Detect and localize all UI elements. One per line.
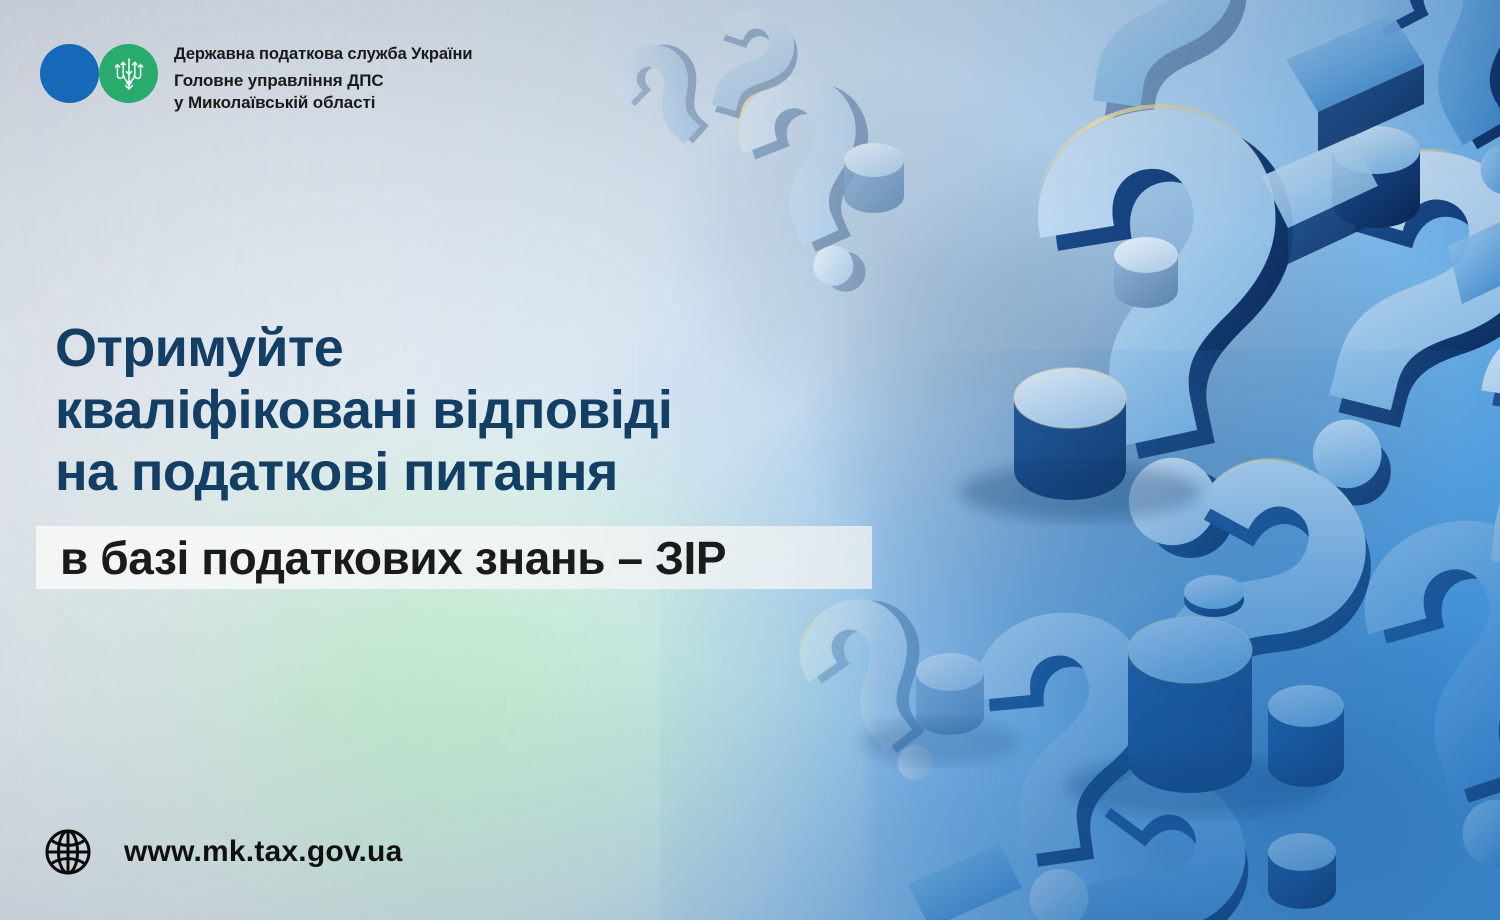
headline-block: Отримуйте кваліфіковані відповіді на под… <box>55 318 915 503</box>
ukraine-trident-icon <box>99 44 158 103</box>
logo-text-block: Державна податкова служба України Головн… <box>174 44 472 113</box>
headline-line-2: кваліфіковані відповіді <box>55 380 915 442</box>
logo-line-agency: Державна податкова служба України <box>174 45 472 64</box>
headline-line-3: на податкові питання <box>55 442 915 504</box>
organization-logo: Державна податкова служба України Головн… <box>40 44 472 113</box>
headline-highlight-text: в базі податкових знань – ЗІР <box>60 535 726 581</box>
website-url[interactable]: www.mk.tax.gov.ua <box>124 835 402 869</box>
globe-icon <box>42 826 94 878</box>
logo-marks <box>40 44 158 104</box>
footer-website[interactable]: www.mk.tax.gov.ua <box>42 826 402 878</box>
headline-line-1: Отримуйте <box>55 318 915 380</box>
logo-line-directorate: Головне управління ДПС <box>174 70 472 92</box>
blue-circle-icon <box>40 44 99 103</box>
promo-banner: Державна податкова служба України Головн… <box>0 0 1500 920</box>
logo-line-region: у Миколаївській області <box>174 92 472 114</box>
headline-highlight-band: в базі податкових знань – ЗІР <box>36 526 872 589</box>
